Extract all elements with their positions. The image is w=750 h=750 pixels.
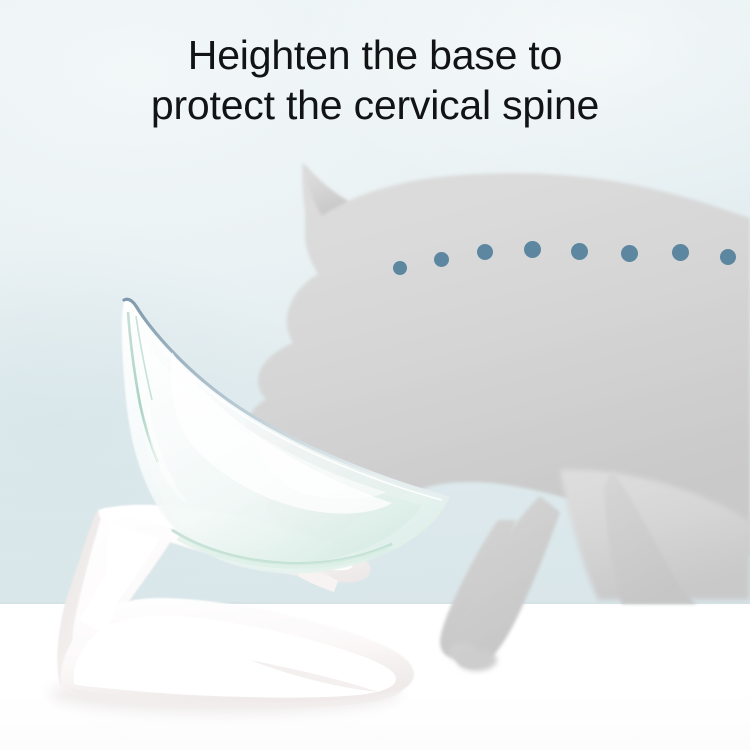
product-image-canvas: Heighten the base to protect the cervica… [0,0,750,750]
headline-line-2: protect the cervical spine [0,80,750,130]
page-headline: Heighten the base to protect the cervica… [0,30,750,130]
stand-base-plate [61,598,414,709]
headline-line-1: Heighten the base to [188,32,562,78]
